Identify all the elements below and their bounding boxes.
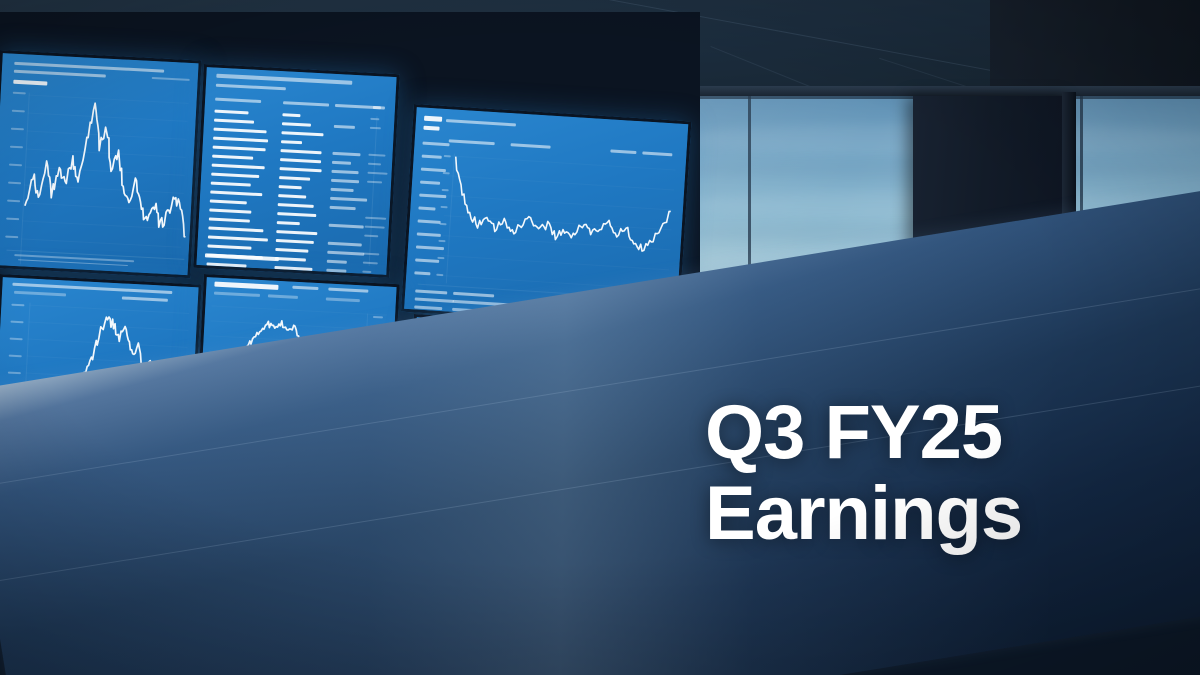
- display-panel-top-left[interactable]: [0, 50, 202, 278]
- panel-surface: [0, 53, 199, 275]
- screenshot-stage: Q3 FY25 Earnings: [0, 0, 1200, 675]
- panel-surface: [196, 67, 396, 275]
- display-panel-top-center[interactable]: [193, 64, 399, 278]
- overlay-title-line1: Q3 FY25: [705, 390, 1002, 475]
- overlay-title: Q3 FY25 Earnings: [705, 392, 1105, 555]
- overlay-title-line2: Earnings: [705, 473, 1105, 554]
